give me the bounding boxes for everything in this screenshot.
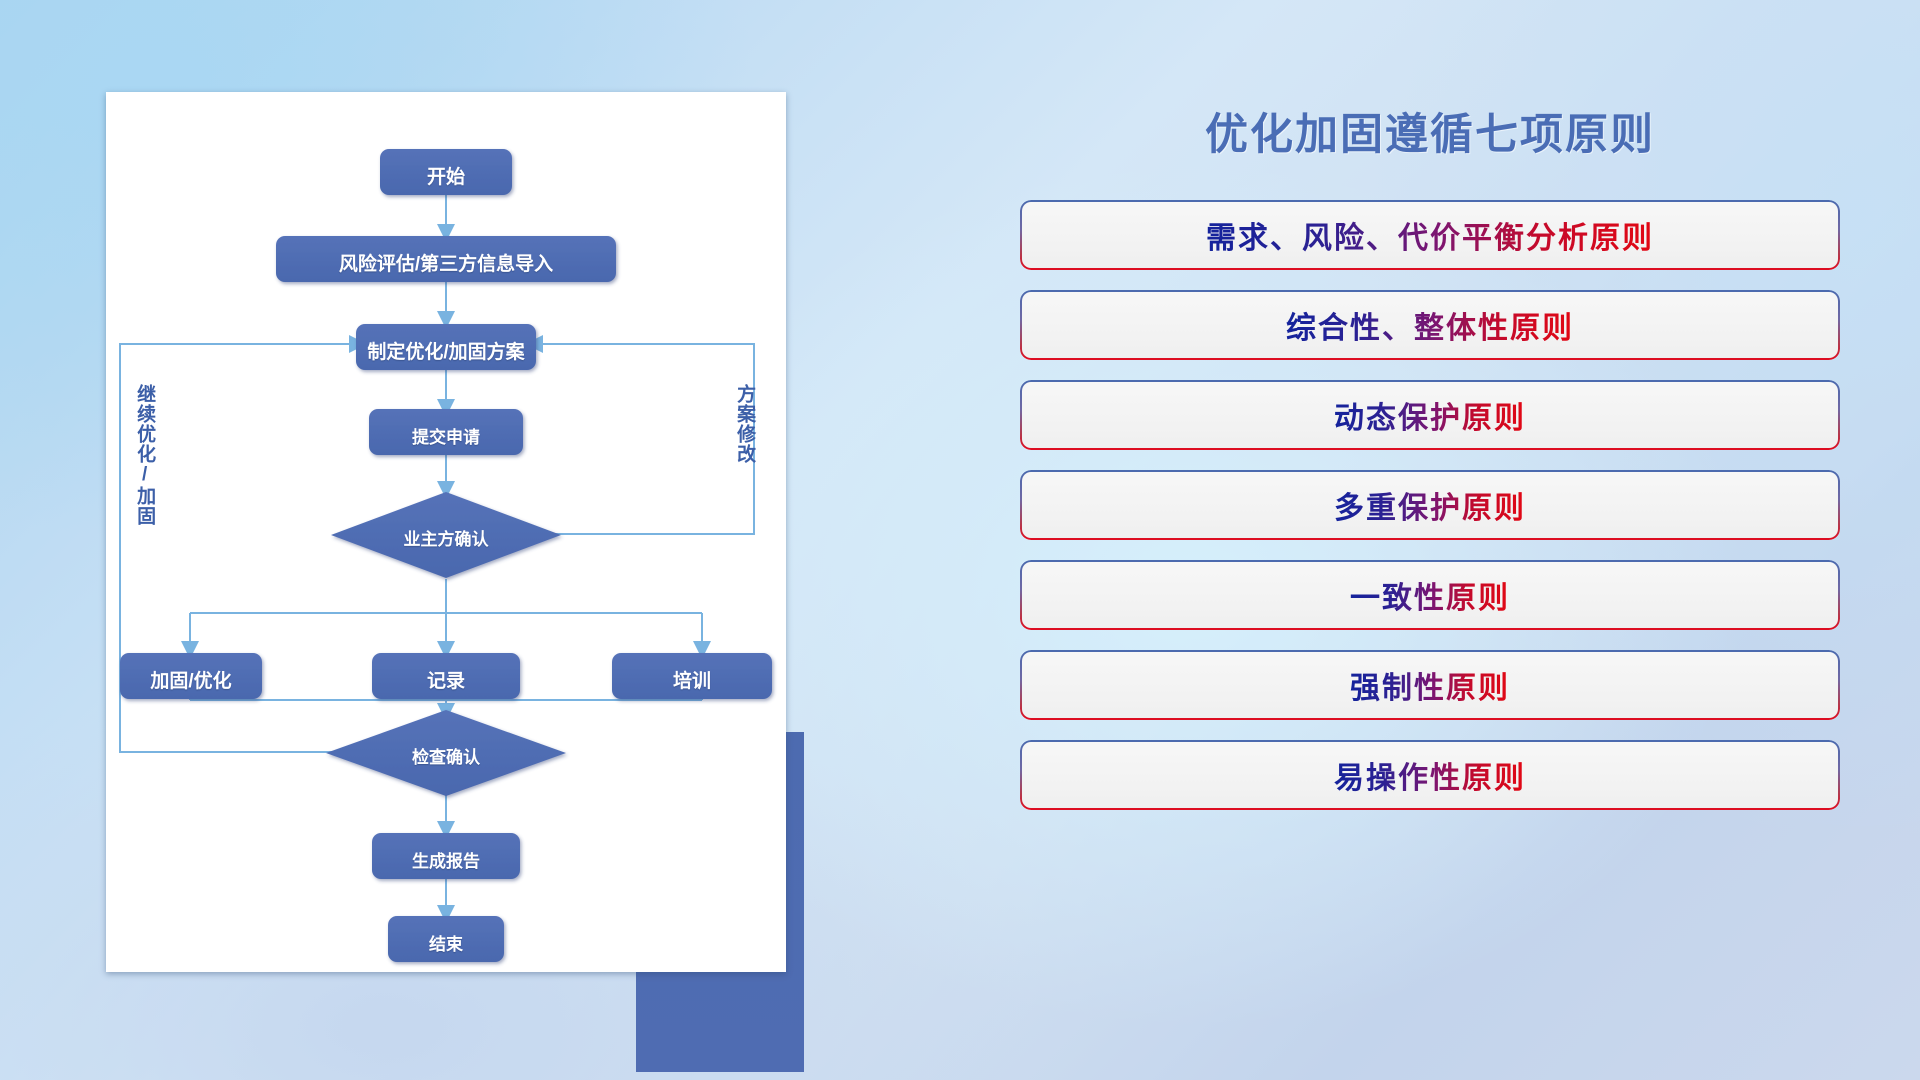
principle-card-7[interactable]: 易操作性原则 bbox=[1020, 740, 1840, 810]
node-shape-reinforce bbox=[120, 653, 262, 699]
principles-panel: 优化加固遵循七项原则 需求、风险、代价平衡分析原则 综合性、整体性原则 动态保护… bbox=[1020, 100, 1840, 1000]
principle-card-2[interactable]: 综合性、整体性原则 bbox=[1020, 290, 1840, 360]
slide-canvas: 开始 风险评估/第三方信息导入 制定优化/加固方案 提交申请 业主方确认 加固/… bbox=[0, 0, 1920, 1080]
flowchart-panel: 开始 风险评估/第三方信息导入 制定优化/加固方案 提交申请 业主方确认 加固/… bbox=[106, 92, 786, 968]
flowchart-svg bbox=[106, 92, 786, 972]
principle-label: 动态保护原则 bbox=[1334, 393, 1526, 437]
principle-card-1[interactable]: 需求、风险、代价平衡分析原则 bbox=[1020, 200, 1840, 270]
node-shape-check bbox=[326, 710, 566, 796]
edge-label-continue-optimize: 继续优化/加固 bbox=[134, 384, 154, 564]
principle-label: 强制性原则 bbox=[1350, 663, 1510, 707]
principle-label: 易操作性原则 bbox=[1334, 753, 1526, 797]
node-shape-train bbox=[612, 653, 772, 699]
node-shape-start bbox=[380, 149, 512, 195]
principle-card-6[interactable]: 强制性原则 bbox=[1020, 650, 1840, 720]
node-shape-record bbox=[372, 653, 520, 699]
principle-card-5[interactable]: 一致性原则 bbox=[1020, 560, 1840, 630]
edge-label-plan-revision: 方案修改 bbox=[734, 384, 754, 514]
principle-label: 需求、风险、代价平衡分析原则 bbox=[1206, 213, 1654, 257]
principle-card-3[interactable]: 动态保护原则 bbox=[1020, 380, 1840, 450]
flowchart-card: 开始 风险评估/第三方信息导入 制定优化/加固方案 提交申请 业主方确认 加固/… bbox=[106, 92, 786, 972]
node-shape-owner bbox=[331, 492, 561, 578]
node-shape-report bbox=[372, 833, 520, 879]
principle-label: 多重保护原则 bbox=[1334, 483, 1526, 527]
principle-card-4[interactable]: 多重保护原则 bbox=[1020, 470, 1840, 540]
principle-label: 综合性、整体性原则 bbox=[1286, 303, 1574, 347]
principle-label: 一致性原则 bbox=[1350, 573, 1510, 617]
node-shape-risk bbox=[276, 236, 616, 282]
node-shape-submit bbox=[369, 409, 523, 455]
node-shape-plan bbox=[356, 324, 536, 370]
principles-list: 需求、风险、代价平衡分析原则 综合性、整体性原则 动态保护原则 多重保护原则 一… bbox=[1020, 200, 1840, 810]
node-shape-end bbox=[388, 916, 504, 962]
page-title: 优化加固遵循七项原则 bbox=[1020, 100, 1840, 162]
